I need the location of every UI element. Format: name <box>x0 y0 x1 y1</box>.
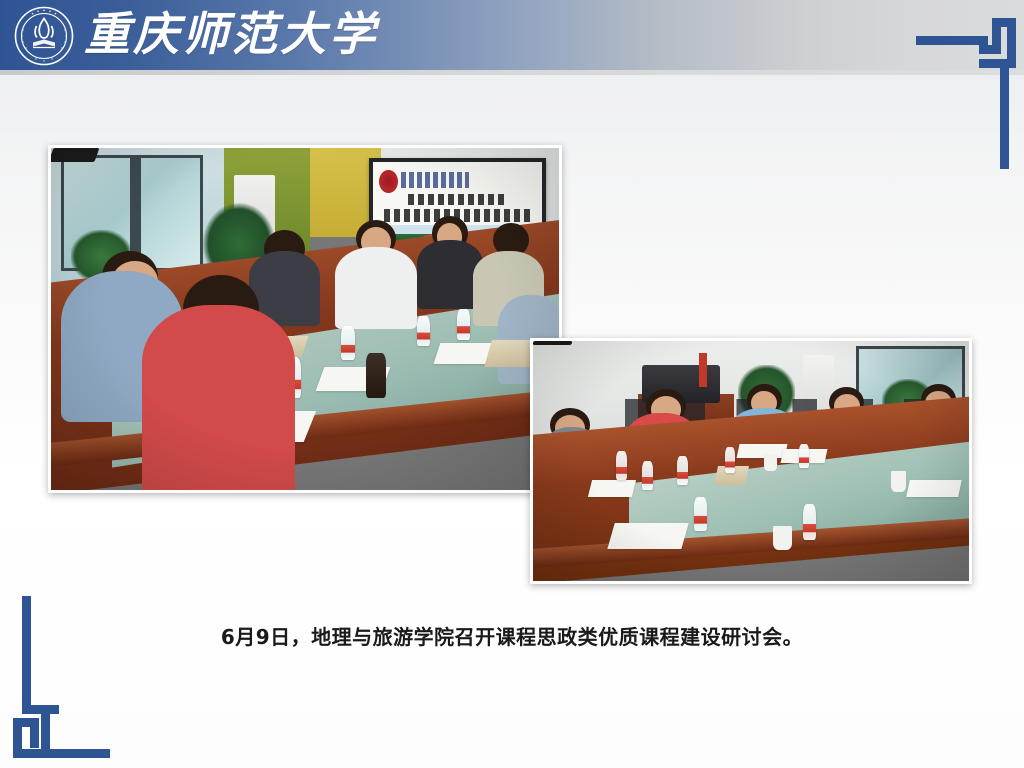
phone <box>49 148 100 162</box>
document <box>608 523 690 549</box>
paper-cup <box>891 471 907 493</box>
screen-university-logo-icon <box>379 170 398 193</box>
thermos <box>366 353 386 397</box>
decorative-corner-top-right-icon <box>916 8 1016 173</box>
person <box>335 247 416 329</box>
screen-university-name <box>401 172 469 189</box>
paper-cup <box>773 526 792 550</box>
caption-bar: 6月9日，地理与旅游学院召开课程思政类优质课程建设研讨会。 <box>0 600 1024 670</box>
slide-caption: 6月9日，地理与旅游学院召开课程思政类优质课程建设研讨会。 <box>221 621 803 650</box>
slide-root: 重庆师范大学 <box>0 0 1024 768</box>
flag <box>699 353 708 387</box>
header-underline <box>0 70 1024 75</box>
university-wordmark: 重庆师范大学 <box>84 4 384 66</box>
screen-title-line-1 <box>408 194 506 206</box>
meeting-photo-secondary-scene <box>533 341 969 581</box>
pen <box>532 341 572 345</box>
meeting-photo-main[interactable] <box>48 145 562 493</box>
header-banner: 重庆师范大学 <box>0 0 1024 70</box>
meeting-photo-secondary[interactable] <box>530 338 972 584</box>
water-bottle <box>616 451 627 480</box>
paper-cup <box>764 454 777 471</box>
university-seal-icon <box>14 6 74 66</box>
person-foreground <box>142 305 294 493</box>
university-name-text: 重庆师范大学 <box>84 12 378 58</box>
meeting-photo-main-scene <box>51 148 559 490</box>
